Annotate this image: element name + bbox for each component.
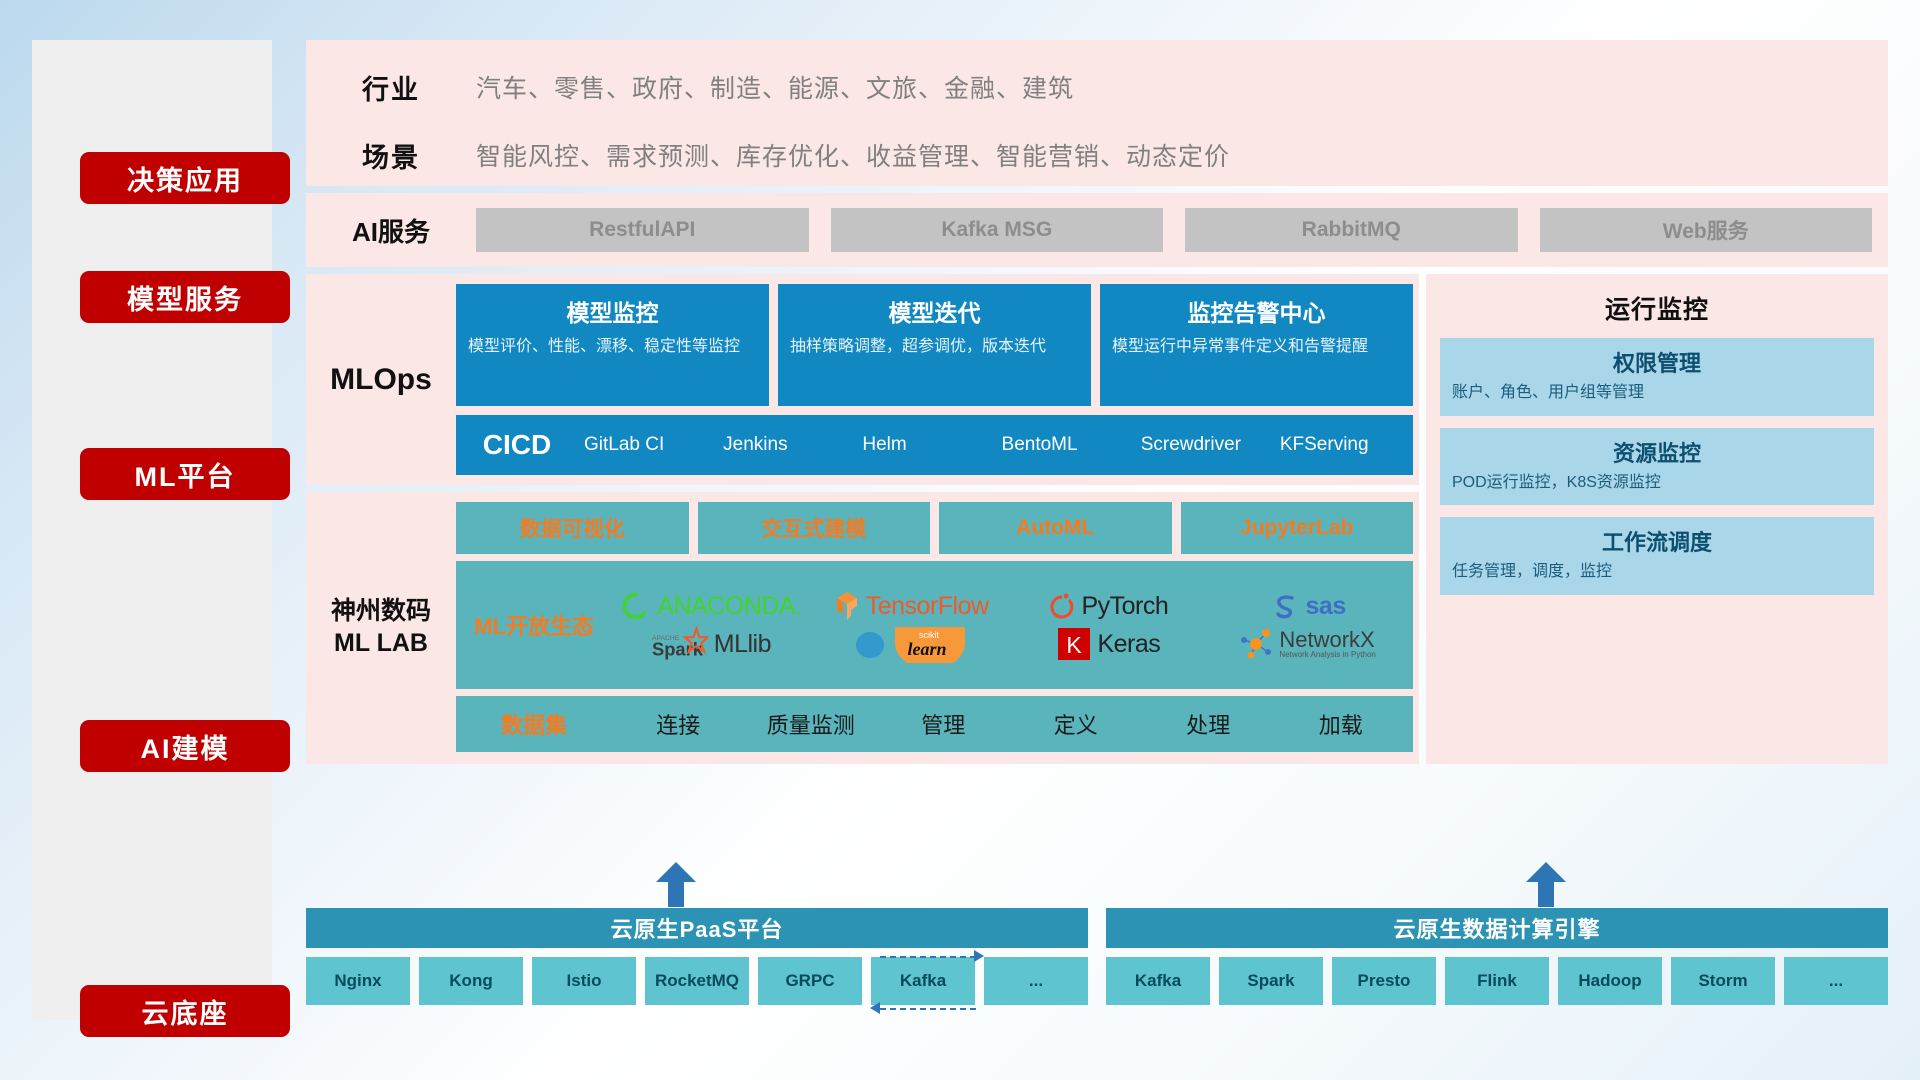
ml-ecosystem-row: ML开放生态 ANACONDA. xyxy=(456,561,1413,689)
mlops-card-model-iteration[interactable]: 模型迭代 抽样策略调整，超参调优，版本迭代 xyxy=(778,284,1091,406)
paas-chip-rocketmq[interactable]: RocketMQ xyxy=(645,957,749,1005)
industry-values: 汽车、零售、政府、制造、能源、文旅、金融、建筑 xyxy=(476,69,1074,105)
svg-text:K: K xyxy=(1067,632,1083,658)
ml-lab-label-line1: 神州数码 xyxy=(331,595,431,628)
card-desc: 任务管理，调度，监控 xyxy=(1452,561,1862,583)
engine-chip-spark[interactable]: Spark xyxy=(1219,957,1323,1005)
cicd-item-bentoml[interactable]: BentoML xyxy=(996,433,1135,457)
mlops-band: MLOps 模型监控 模型评价、性能、漂移、稳定性等监控 模型迭代 抽样策略调整… xyxy=(306,274,1419,485)
networkx-icon xyxy=(1239,628,1273,660)
card-title: 模型迭代 xyxy=(790,294,1079,328)
spark-mllib-logo[interactable]: APACHE Spark MLlib xyxy=(652,626,771,662)
logo-text: MLlib xyxy=(714,630,771,659)
stage-chip-decision-app[interactable]: 决策应用 xyxy=(80,152,290,204)
engine-chip-more[interactable]: ... xyxy=(1784,957,1888,1005)
ai-modeling-band: 神州数码 ML LAB 数据可视化 交互式建模 AutoML JupyterLa… xyxy=(306,492,1419,764)
logo-text: ANACONDA. xyxy=(657,592,801,621)
cicd-item-screwdriver[interactable]: Screwdriver xyxy=(1135,433,1274,457)
scenario-values: 智能风控、需求预测、库存优化、收益管理、智能营销、动态定价 xyxy=(476,137,1230,173)
upward-arrows xyxy=(306,862,1888,912)
card-desc: 抽样策略调整，超参调优，版本迭代 xyxy=(790,336,1079,358)
paas-chip-more[interactable]: ... xyxy=(984,957,1088,1005)
scenario-label: 场景 xyxy=(306,136,476,175)
service-pill-restfulapi[interactable]: RestfulAPI xyxy=(476,208,809,252)
stage-chip-cloud-base[interactable]: 云底座 xyxy=(80,985,290,1037)
card-title: 资源监控 xyxy=(1452,436,1862,468)
card-title: 模型监控 xyxy=(468,294,757,328)
arrow-paas-to-lab xyxy=(656,862,696,906)
card-desc: POD运行监控，K8S资源监控 xyxy=(1452,472,1862,494)
logo-text: Keras xyxy=(1097,630,1160,659)
monitor-card-resource[interactable]: 资源监控 POD运行监控，K8S资源监控 xyxy=(1440,428,1874,506)
logo-subtext: Network Analysis in Python xyxy=(1279,651,1376,659)
dash-line-left xyxy=(880,1008,976,1010)
paas-chip-istio[interactable]: Istio xyxy=(532,957,636,1005)
mlops-label: MLOps xyxy=(306,284,456,475)
svg-text:learn: learn xyxy=(908,639,947,659)
cloud-foundation-band: 云原生PaaS平台 Nginx Kong Istio RocketMQ GRPC… xyxy=(306,908,1888,1038)
dash-arrowhead-right xyxy=(974,950,984,962)
tool-pill-interactive-modeling[interactable]: 交互式建模 xyxy=(698,502,931,554)
engine-chip-presto[interactable]: Presto xyxy=(1332,957,1436,1005)
dataset-item-load[interactable]: 加载 xyxy=(1275,708,1408,740)
paas-chip-nginx[interactable]: Nginx xyxy=(306,957,410,1005)
ml-lab-label-line2: ML LAB xyxy=(334,627,428,660)
engine-chip-hadoop[interactable]: Hadoop xyxy=(1558,957,1662,1005)
scikit-learn-logo[interactable]: scikit learn xyxy=(853,625,967,663)
stage-chip-ai-modeling[interactable]: AI建模 xyxy=(80,720,290,772)
service-pill-kafka-msg[interactable]: Kafka MSG xyxy=(831,208,1164,252)
sas-icon xyxy=(1270,592,1300,620)
industry-label: 行业 xyxy=(306,68,476,107)
sas-logo[interactable]: sas xyxy=(1270,592,1346,621)
mlops-card-alert-center[interactable]: 监控告警中心 模型运行中异常事件定义和告警提醒 xyxy=(1100,284,1413,406)
service-pill-web-service[interactable]: Web服务 xyxy=(1540,208,1873,252)
stage-chip-model-service[interactable]: 模型服务 xyxy=(80,271,290,323)
dash-line-right xyxy=(880,956,976,958)
scenario-row: 场景 智能风控、需求预测、库存优化、收益管理、智能营销、动态定价 xyxy=(306,130,1888,180)
runtime-monitoring-title: 运行监控 xyxy=(1426,274,1888,326)
card-title: 监控告警中心 xyxy=(1112,294,1401,328)
tool-pill-jupyterlab[interactable]: JupyterLab xyxy=(1181,502,1414,554)
cicd-item-helm[interactable]: Helm xyxy=(856,433,995,457)
ml-lab-label: 神州数码 ML LAB xyxy=(306,502,456,752)
cicd-item-kfserving[interactable]: KFServing xyxy=(1274,433,1413,457)
engine-chip-kafka[interactable]: Kafka xyxy=(1106,957,1210,1005)
mlops-card-list: 模型监控 模型评价、性能、漂移、稳定性等监控 模型迭代 抽样策略调整，超参调优，… xyxy=(456,284,1413,406)
ai-service-list: RestfulAPI Kafka MSG RabbitMQ Web服务 xyxy=(476,208,1888,252)
keras-logo[interactable]: K Keras xyxy=(1057,627,1160,661)
paas-chip-grpc[interactable]: GRPC xyxy=(758,957,862,1005)
arrow-engine-to-lab xyxy=(1526,862,1566,906)
application-layer-band: 行业 汽车、零售、政府、制造、能源、文旅、金融、建筑 场景 智能风控、需求预测、… xyxy=(306,40,1888,186)
networkx-logo[interactable]: NetworkX Network Analysis in Python xyxy=(1239,628,1376,660)
pytorch-icon xyxy=(1049,591,1075,621)
dataset-item-manage[interactable]: 管理 xyxy=(877,708,1010,740)
data-engine-group: 云原生数据计算引擎 Kafka Spark Presto Flink Hadoo… xyxy=(1106,908,1888,1005)
svg-text:Spark: Spark xyxy=(652,639,704,660)
ml-ecosystem-label: ML开放生态 xyxy=(456,609,612,641)
paas-chip-kong[interactable]: Kong xyxy=(419,957,523,1005)
dash-arrowhead-left xyxy=(870,1002,880,1014)
runtime-monitoring-column: 运行监控 权限管理 账户、角色、用户组等管理 资源监控 POD运行监控，K8S资… xyxy=(1426,274,1888,764)
industry-row: 行业 汽车、零售、政府、制造、能源、文旅、金融、建筑 xyxy=(306,62,1888,112)
dataset-item-quality-monitor[interactable]: 质量监测 xyxy=(745,708,878,740)
dataset-row: 数据集 连接 质量监测 管理 定义 处理 加载 xyxy=(456,696,1413,752)
dataset-item-list: 连接 质量监测 管理 定义 处理 加载 xyxy=(612,708,1413,740)
ai-service-band: AI服务 RestfulAPI Kafka MSG RabbitMQ Web服务 xyxy=(306,193,1888,267)
cicd-item-list: GitLab CI Jenkins Helm BentoML Screwdriv… xyxy=(578,433,1413,457)
tensorflow-icon xyxy=(832,590,860,622)
dataset-item-define[interactable]: 定义 xyxy=(1010,708,1143,740)
card-title: 权限管理 xyxy=(1452,346,1862,378)
scikit-blob-icon xyxy=(853,627,887,661)
cloud-exchange-arrows xyxy=(866,946,988,1032)
logo-text: PyTorch xyxy=(1081,592,1168,621)
dataset-item-process[interactable]: 处理 xyxy=(1142,708,1275,740)
dataset-item-connect[interactable]: 连接 xyxy=(612,708,745,740)
cicd-bar: CICD GitLab CI Jenkins Helm BentoML Scre… xyxy=(456,415,1413,475)
dataset-label: 数据集 xyxy=(456,708,612,740)
tool-pill-automl[interactable]: AutoML xyxy=(939,502,1172,554)
logo-text: sas xyxy=(1306,592,1346,621)
service-pill-rabbitmq[interactable]: RabbitMQ xyxy=(1185,208,1518,252)
card-desc: 账户、角色、用户组等管理 xyxy=(1452,382,1862,404)
paas-title-bar: 云原生PaaS平台 xyxy=(306,908,1088,948)
anaconda-icon xyxy=(621,591,651,621)
logo-text: NetworkX xyxy=(1279,629,1376,651)
mlops-card-model-monitor[interactable]: 模型监控 模型评价、性能、漂移、稳定性等监控 xyxy=(456,284,769,406)
tensorflow-logo[interactable]: TensorFlow xyxy=(832,590,989,622)
logo-text: TensorFlow xyxy=(866,592,989,621)
data-engine-title-bar: 云原生数据计算引擎 xyxy=(1106,908,1888,948)
card-desc: 模型评价、性能、漂移、稳定性等监控 xyxy=(468,336,757,358)
lab-tool-list: 数据可视化 交互式建模 AutoML JupyterLab xyxy=(456,502,1413,554)
pytorch-logo[interactable]: PyTorch xyxy=(1049,591,1168,621)
engine-chip-storm[interactable]: Storm xyxy=(1671,957,1775,1005)
keras-icon: K xyxy=(1057,627,1091,661)
ai-service-label: AI服务 xyxy=(306,212,476,249)
scikit-learn-icon: scikit learn xyxy=(893,625,967,663)
card-desc: 模型运行中异常事件定义和告警提醒 xyxy=(1112,336,1401,358)
stage-chip-ml-platform[interactable]: ML平台 xyxy=(80,448,290,500)
cicd-title: CICD xyxy=(456,429,578,461)
platform-and-monitoring-row: MLOps 模型监控 模型评价、性能、漂移、稳定性等监控 模型迭代 抽样策略调整… xyxy=(306,274,1888,764)
stage-label-column: 决策应用 模型服务 ML平台 AI建模 云底座 xyxy=(32,40,272,1020)
cicd-item-jenkins[interactable]: Jenkins xyxy=(717,433,856,457)
ml-ecosystem-logo-grid: ANACONDA. T xyxy=(612,587,1413,663)
architecture-diagram: 决策应用 模型服务 ML平台 AI建模 云底座 行业 汽车、零售、政府、制造、能… xyxy=(0,0,1920,1080)
monitor-card-permission[interactable]: 权限管理 账户、角色、用户组等管理 xyxy=(1440,338,1874,416)
tool-pill-data-visualization[interactable]: 数据可视化 xyxy=(456,502,689,554)
anaconda-logo[interactable]: ANACONDA. xyxy=(621,591,801,621)
data-engine-chip-row: Kafka Spark Presto Flink Hadoop Storm ..… xyxy=(1106,957,1888,1005)
cicd-item-gitlab-ci[interactable]: GitLab CI xyxy=(578,433,717,457)
engine-chip-flink[interactable]: Flink xyxy=(1445,957,1549,1005)
layers-column: 行业 汽车、零售、政府、制造、能源、文旅、金融、建筑 场景 智能风控、需求预测、… xyxy=(306,40,1888,764)
monitor-card-workflow[interactable]: 工作流调度 任务管理，调度，监控 xyxy=(1440,517,1874,595)
spark-icon: APACHE Spark xyxy=(652,626,708,662)
card-title: 工作流调度 xyxy=(1452,525,1862,557)
